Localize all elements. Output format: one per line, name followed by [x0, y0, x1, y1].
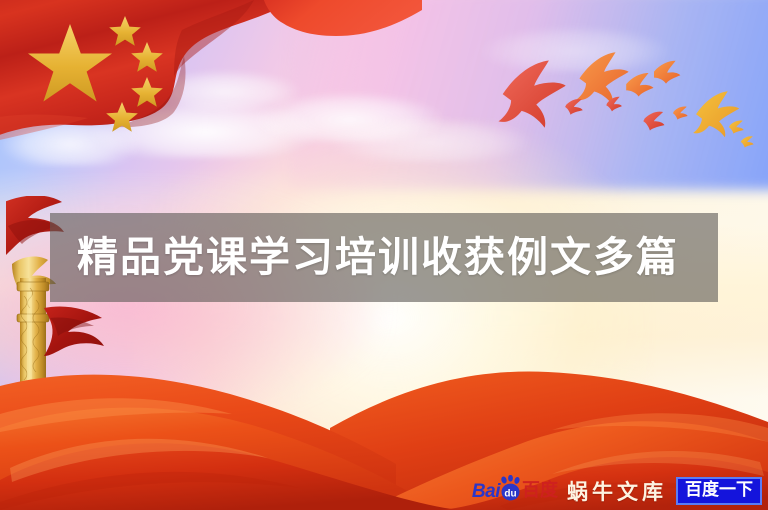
page-title: 精品党课学习培训收获例文多篇	[50, 237, 679, 278]
flying-doves-flock	[480, 46, 768, 166]
baidu-logo-du: du	[504, 489, 516, 500]
baidu-logo-bai: Bai	[472, 482, 500, 501]
china-flag	[0, 0, 422, 179]
baidu-search-button[interactable]: 百度一下	[676, 477, 762, 506]
baidu-logo-chinese: 百度	[522, 482, 558, 500]
poster-canvas: 精品党课学习培训收获例文多篇 Bai du 百度 蜗牛文库 百度一下	[0, 0, 768, 510]
paw-print-icon: du	[498, 480, 523, 502]
baidu-logo[interactable]: Bai du 百度	[472, 479, 558, 503]
footer-watermark: Bai du 百度 蜗牛文库 百度一下	[472, 476, 762, 506]
site-name: 蜗牛文库	[567, 476, 667, 506]
title-overlay-bar: 精品党课学习培训收获例文多篇	[50, 213, 718, 302]
